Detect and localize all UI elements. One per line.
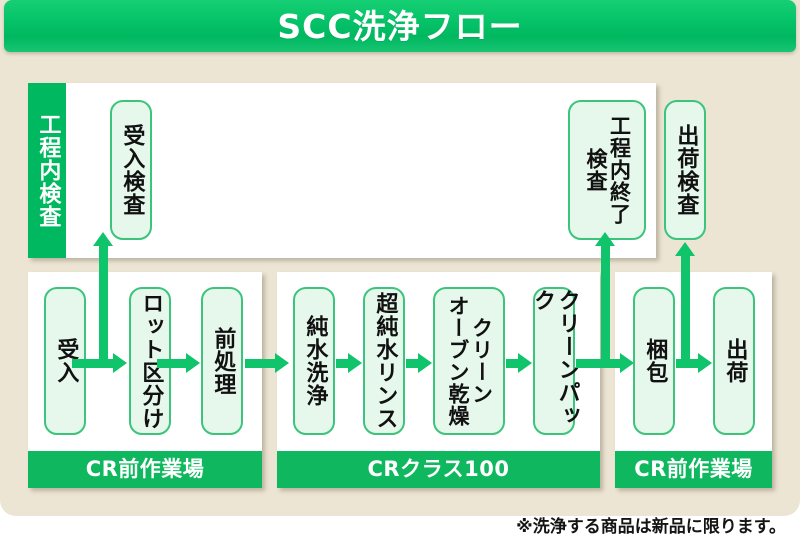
arrow-clean-oven-dry-to-clean-pack — [506, 359, 519, 368]
group-footer-pre-cr-2-label: CR前作業場 — [634, 459, 753, 480]
group-footer-cr-class100-label: CRクラス100 — [368, 459, 510, 480]
arrow-ultrapure-rinse-to-clean-oven-dry — [406, 359, 419, 368]
arrow-pretreatment-to-pure-water-wash — [245, 359, 276, 368]
step-box-clean-oven-dry-label-right: クリーン — [469, 317, 493, 405]
inspection-box-shipping[interactable]: 出荷検査 — [664, 100, 706, 240]
group-footer-pre-cr-2: CR前作業場 — [615, 451, 772, 488]
group-panel-pre-cr-2: 梱包 出荷 CR前作業場 — [615, 272, 772, 488]
step-box-pure-water-wash-label: 純水洗浄 — [302, 315, 327, 407]
step-box-pretreatment-label: 前処理 — [210, 327, 235, 396]
step-box-pretreatment[interactable]: 前処理 — [201, 287, 243, 435]
step-box-packing[interactable]: 梱包 — [633, 287, 675, 435]
arrow-stem-receiving-inspection — [99, 245, 108, 368]
step-box-ultrapure-rinse-label: 超純水リンス — [372, 292, 397, 430]
arrow-clean-pack-to-packing — [576, 359, 621, 368]
inspection-box-process-end-label-right: 工程内終了 — [607, 115, 631, 225]
group-footer-cr-class100: CRクラス100 — [277, 451, 600, 488]
inspection-sidebar-label: 工程内検査 — [28, 83, 66, 258]
step-box-clean-pack-label: クリーンパック — [529, 289, 578, 433]
inspection-sidebar-text: 工程内検査 — [35, 113, 60, 228]
step-box-packing-label: 梱包 — [642, 338, 667, 384]
inspection-box-incoming[interactable]: 受入検査 — [110, 100, 152, 240]
step-box-clean-oven-dry[interactable]: クリーン オーブン乾燥 — [433, 287, 505, 435]
step-box-clean-pack[interactable]: クリーンパック — [533, 287, 575, 435]
inspection-box-shipping-label: 出荷検査 — [673, 124, 698, 216]
arrow-lot-sorting-to-pretreatment — [157, 359, 187, 368]
inspection-panel: 工程内検査 受入検査 工程内終了 検査 — [28, 83, 656, 258]
footnote: ※洗浄する商品は新品に限ります。 — [516, 519, 786, 536]
page-title: SCC洗浄フロー — [277, 10, 522, 43]
arrow-stem-shipping-inspection — [681, 255, 690, 368]
step-box-pure-water-wash[interactable]: 純水洗浄 — [293, 287, 335, 435]
step-box-clean-oven-dry-label-left: オーブン乾燥 — [445, 295, 469, 427]
arrow-pure-water-wash-to-ultrapure-rinse — [336, 359, 349, 368]
step-box-shipping-label: 出荷 — [722, 338, 747, 384]
group-panel-pre-cr-1: 受入 ロット区分け 前処理 CR前作業場 — [28, 272, 262, 488]
inspection-box-process-end-label-left: 検査 — [583, 148, 607, 192]
group-footer-pre-cr-1: CR前作業場 — [28, 451, 262, 488]
title-banner: SCC洗浄フロー — [4, 0, 796, 52]
inspection-box-incoming-label: 受入検査 — [119, 124, 144, 216]
step-box-shipping[interactable]: 出荷 — [713, 287, 755, 435]
group-footer-pre-cr-1-label: CR前作業場 — [86, 459, 205, 480]
step-box-ultrapure-rinse[interactable]: 超純水リンス — [363, 287, 405, 435]
flow-diagram-canvas: SCC洗浄フロー 工程内検査 受入検査 工程内終了 検査 出荷検査 受入 ロット… — [0, 0, 800, 546]
inspection-box-process-end[interactable]: 工程内終了 検査 — [568, 100, 646, 240]
group-panel-cr-class100: 純水洗浄 超純水リンス クリーン オーブン乾燥 クリーンパック CRクラス100 — [277, 272, 600, 488]
arrow-stem-process-end-inspection — [601, 245, 610, 368]
